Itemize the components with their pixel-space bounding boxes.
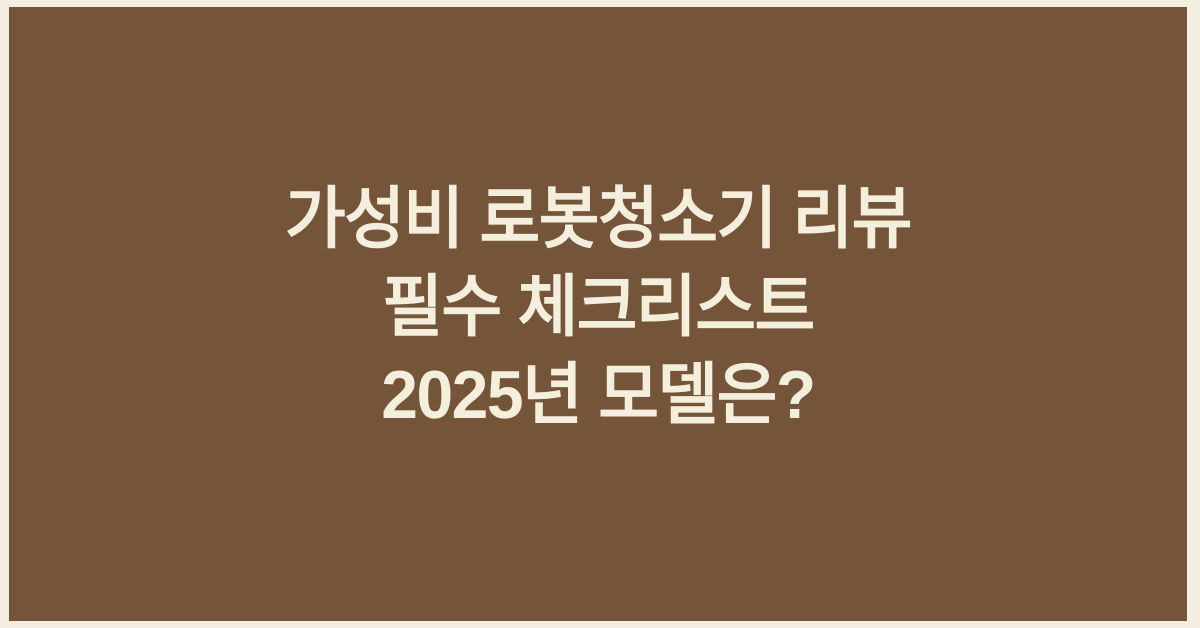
title-line-2: 필수 체크리스트 <box>65 263 1130 351</box>
thumbnail-card: 가성비 로봇청소기 리뷰 필수 체크리스트 2025년 모델은? <box>9 7 1187 621</box>
title-line-3: 2025년 모델은? <box>65 351 1130 439</box>
title-line-1: 가성비 로봇청소기 리뷰 <box>65 175 1130 263</box>
title-block: 가성비 로봇청소기 리뷰 필수 체크리스트 2025년 모델은? <box>9 175 1187 439</box>
thumbnail-frame: 가성비 로봇청소기 리뷰 필수 체크리스트 2025년 모델은? <box>0 0 1200 628</box>
